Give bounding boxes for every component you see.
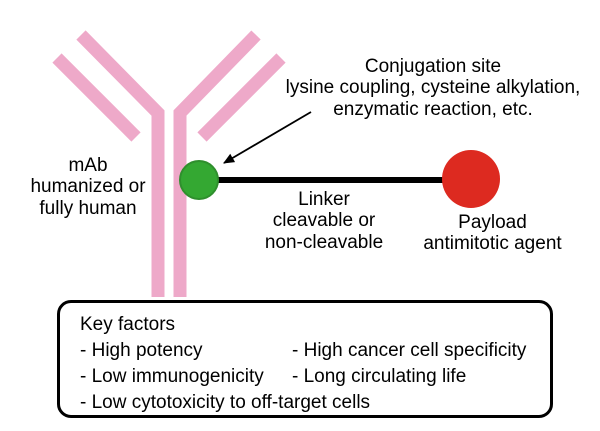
- key-factor-high-potency: - High potency: [80, 341, 203, 360]
- key-factor-long-circulating-life: - Long circulating life: [292, 367, 466, 386]
- payload-circle: [442, 150, 500, 208]
- key-factors-title: Key factors: [80, 315, 175, 334]
- key-factor-low-immunogenicity: - Low immunogenicity: [80, 367, 264, 386]
- key-factor-low-cytotoxicity: - Low cytotoxicity to off-target cells: [80, 393, 370, 412]
- payload-label: Payload antimitotic agent: [390, 212, 595, 255]
- conjugation-site-circle: [180, 161, 218, 199]
- mab-label: mAb humanized or fully human: [8, 155, 168, 219]
- conjugation-site-label: Conjugation site lysine coupling, cystei…: [268, 56, 598, 120]
- key-factors-box: Key factors - High potency - Low immunog…: [57, 300, 553, 418]
- key-factor-high-cancer-cell-specificity: - High cancer cell specificity: [292, 341, 526, 360]
- adc-diagram-canvas: mAb humanized or fully human Conjugation…: [0, 0, 600, 431]
- linker-label: Linker cleavable or non-cleavable: [238, 189, 410, 253]
